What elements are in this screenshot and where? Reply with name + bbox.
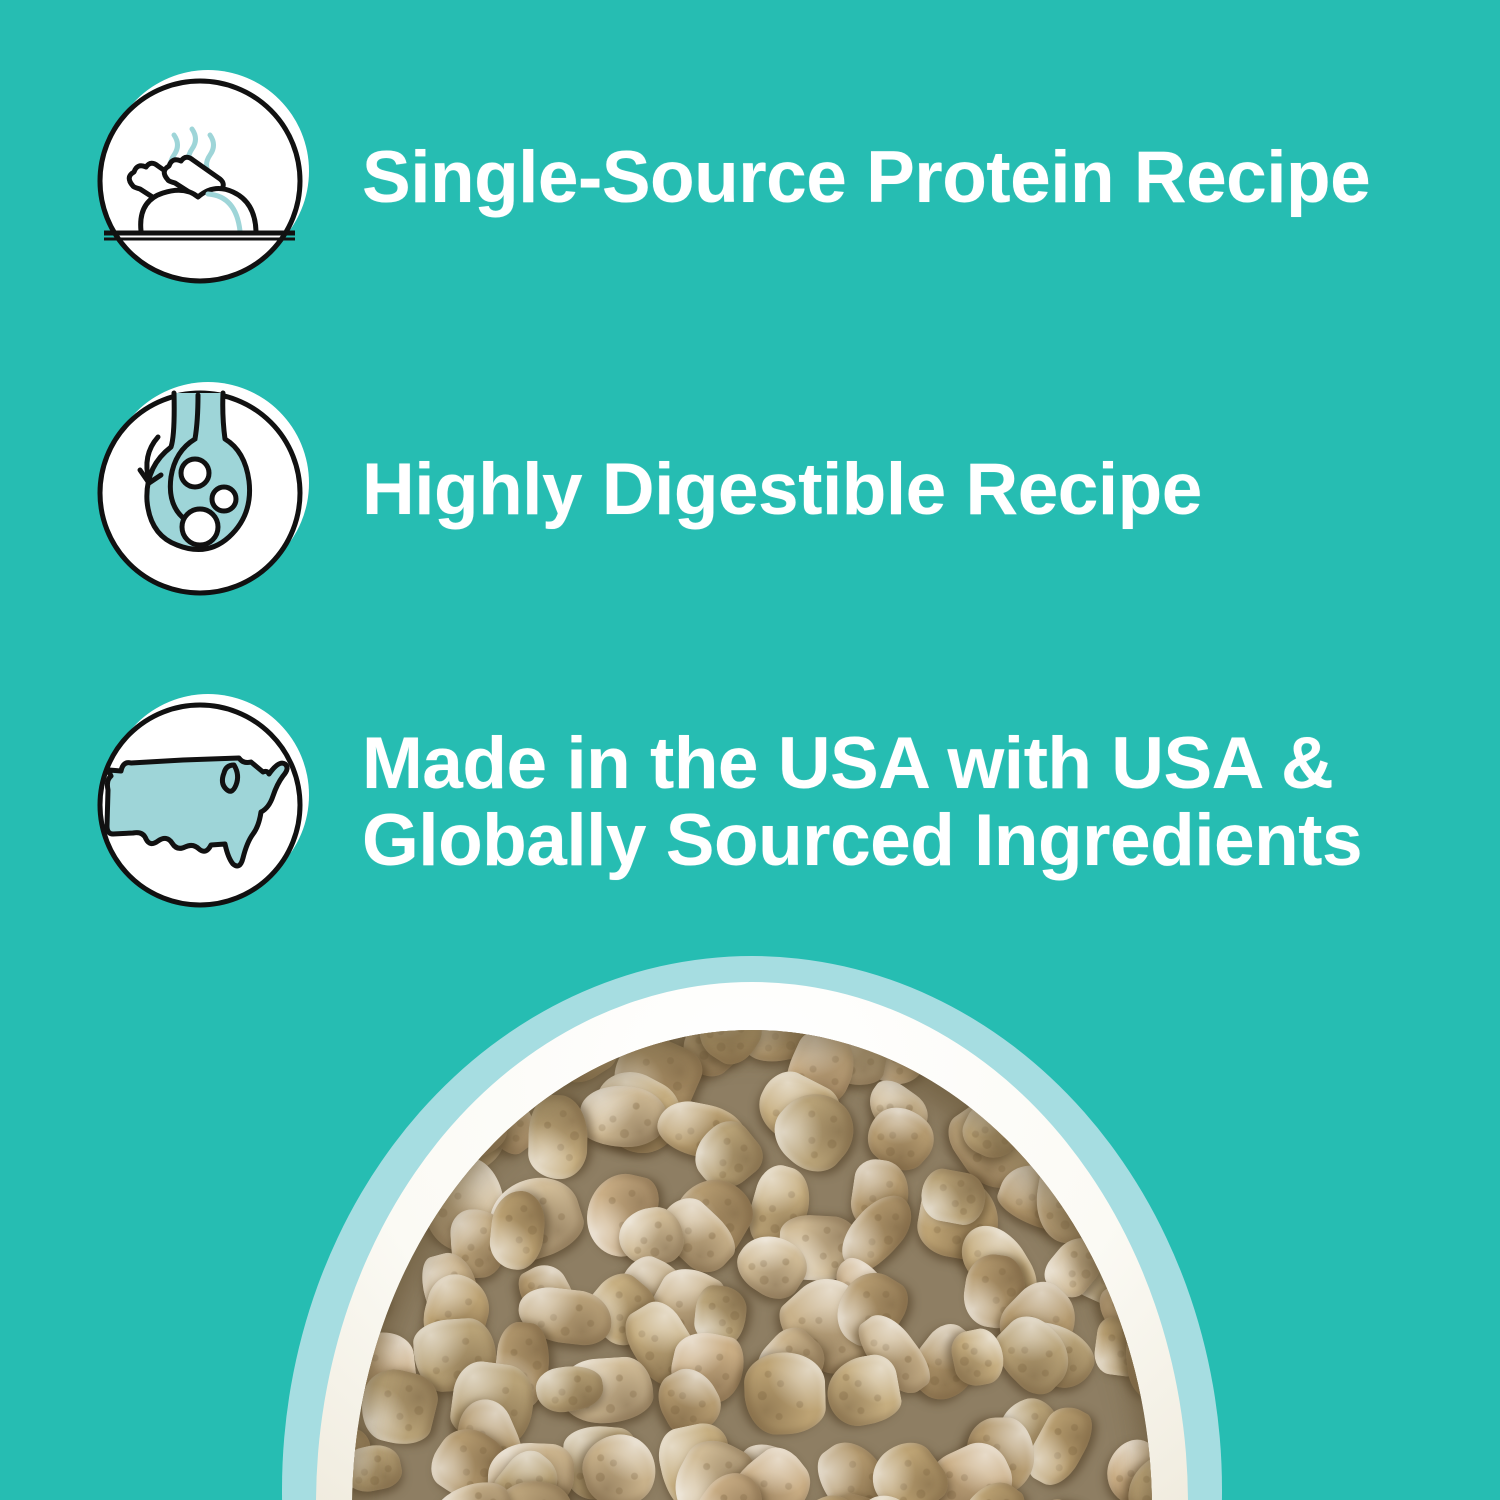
kibble-piece — [744, 1351, 827, 1435]
feature-label: Single-Source Protein Recipe — [362, 139, 1370, 216]
bowl-interior — [352, 1030, 1152, 1500]
kibble-piece — [1019, 1493, 1108, 1500]
kibble-piece — [527, 1095, 587, 1180]
usa-map-icon — [88, 687, 318, 917]
feature-row-highly-digestible: Highly Digestible Recipe — [0, 374, 1500, 606]
product-photo-bowl — [0, 930, 1500, 1500]
product-feature-panel: Single-Source Protein Recipe High — [0, 0, 1500, 1500]
feature-label: Highly Digestible Recipe — [362, 451, 1202, 528]
feature-row-made-in-usa: Made in the USA with USA & Globally Sour… — [0, 686, 1500, 918]
kibble-piece — [352, 1440, 405, 1496]
stomach-digestion-icon — [88, 375, 318, 605]
feature-label: Made in the USA with USA & Globally Sour… — [362, 725, 1362, 880]
plate-meat-steam-icon — [88, 63, 318, 293]
feature-row-single-source-protein: Single-Source Protein Recipe — [0, 62, 1500, 294]
kibble-pile — [352, 1030, 1152, 1500]
